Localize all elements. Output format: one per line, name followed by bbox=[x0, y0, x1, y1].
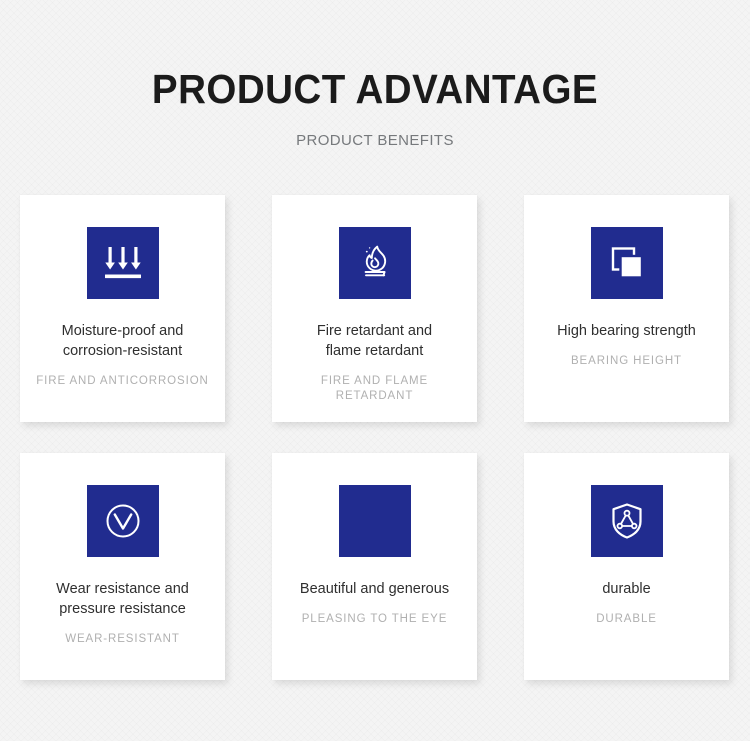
icon-box bbox=[87, 227, 159, 299]
card-subtitle: BEARING HEIGHT bbox=[534, 341, 719, 369]
page-subtitle: PRODUCT BENEFITS bbox=[0, 112, 750, 150]
flame-icon bbox=[353, 241, 397, 285]
card-text: Fire retardant and flame retardant FIRE … bbox=[272, 299, 477, 404]
card-title: Wear resistance and pressure resistance bbox=[30, 557, 215, 619]
card-text: Moisture-proof and corrosion-resistant F… bbox=[20, 299, 225, 389]
card-title: Fire retardant and flame retardant bbox=[282, 299, 467, 361]
icon-box bbox=[339, 227, 411, 299]
advantage-card[interactable]: High bearing strength BEARING HEIGHT bbox=[524, 195, 729, 422]
card-title: Beautiful and generous bbox=[282, 557, 467, 599]
icon-box bbox=[591, 227, 663, 299]
card-text: High bearing strength BEARING HEIGHT bbox=[524, 299, 729, 369]
icon-box bbox=[87, 485, 159, 557]
card-subtitle: WEAR-RESISTANT bbox=[30, 619, 215, 647]
section-header: PRODUCT ADVANTAGE PRODUCT BENEFITS bbox=[0, 66, 750, 150]
icon-box bbox=[339, 485, 411, 557]
circle-chevron-down-icon bbox=[101, 499, 145, 543]
advantage-card[interactable]: Wear resistance and pressure resistance … bbox=[20, 453, 225, 680]
card-text: Wear resistance and pressure resistance … bbox=[20, 557, 225, 647]
advantage-card[interactable]: Beautiful and generous PLEASING TO THE E… bbox=[272, 453, 477, 680]
page-title: PRODUCT ADVANTAGE bbox=[23, 66, 728, 112]
icon-box bbox=[591, 485, 663, 557]
shield-network-icon bbox=[605, 499, 649, 543]
card-subtitle: FIRE AND ANTICORROSION bbox=[30, 361, 215, 389]
stacked-squares-icon bbox=[605, 241, 649, 285]
card-title: Moisture-proof and corrosion-resistant bbox=[30, 299, 215, 361]
card-subtitle: DURABLE bbox=[534, 599, 719, 627]
card-title: durable bbox=[534, 557, 719, 599]
advantage-card[interactable]: Fire retardant and flame retardant FIRE … bbox=[272, 195, 477, 422]
card-text: durable DURABLE bbox=[524, 557, 729, 627]
card-subtitle: PLEASING TO THE EYE bbox=[282, 599, 467, 627]
advantage-card-grid: Moisture-proof and corrosion-resistant F… bbox=[20, 195, 730, 680]
card-subtitle: FIRE AND FLAME RETARDANT bbox=[282, 361, 467, 404]
advantage-card[interactable]: durable DURABLE bbox=[524, 453, 729, 680]
advantage-card[interactable]: Moisture-proof and corrosion-resistant F… bbox=[20, 195, 225, 422]
moisture-arrows-icon bbox=[101, 241, 145, 285]
card-text: Beautiful and generous PLEASING TO THE E… bbox=[272, 557, 477, 627]
product-advantage-page: PRODUCT ADVANTAGE PRODUCT BENEFITS bbox=[0, 0, 750, 741]
card-title: High bearing strength bbox=[534, 299, 719, 341]
blank-icon bbox=[353, 499, 397, 543]
